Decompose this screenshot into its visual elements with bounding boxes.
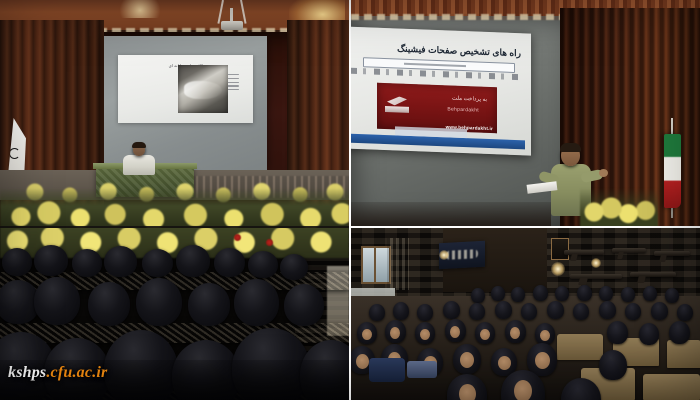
iran-flag	[662, 128, 684, 216]
auditorium-seat	[667, 340, 700, 368]
student-head	[511, 287, 525, 302]
audience-head	[34, 245, 68, 276]
panel-divider-horizontal-right	[351, 226, 700, 228]
panel-officer-presenting-phishing-slide: راه های تشخیص صفحات فیشینگ به پرداخت ملت…	[351, 0, 700, 228]
student-head	[599, 301, 616, 319]
mellat-logo-icon	[385, 95, 411, 118]
flower-arrangement	[580, 188, 658, 228]
student-face	[510, 327, 520, 339]
audience-head	[142, 249, 173, 277]
auditorium-seat	[557, 334, 603, 360]
student-head	[651, 302, 668, 320]
audience-head	[284, 284, 324, 326]
slide-photo	[178, 65, 228, 113]
audience-head	[176, 245, 210, 277]
student-head	[555, 286, 569, 301]
student-face	[514, 380, 532, 400]
student-head	[643, 286, 657, 301]
panel-auditorium-stage-presentation: کلاهبرداری رایانه ای	[0, 0, 349, 228]
student-backpack	[369, 358, 405, 382]
audience-head	[104, 246, 137, 277]
student-face	[498, 356, 511, 370]
student-head	[521, 303, 537, 320]
banner-title: به پرداخت ملت	[452, 96, 487, 103]
red-flower	[266, 239, 273, 246]
student-face	[420, 329, 430, 340]
student-face	[535, 352, 550, 369]
student-head	[547, 301, 564, 319]
presentation-slide: کلاهبرداری رایانه ای	[118, 55, 253, 123]
student-face	[460, 352, 474, 368]
officer-hair	[560, 143, 581, 152]
audience-head	[136, 278, 182, 326]
site-watermark: kshps.cfu.ac.ir	[8, 364, 107, 382]
audience-head	[214, 248, 245, 277]
student-head	[417, 304, 433, 321]
officer-hair	[132, 142, 146, 148]
audience-head	[188, 283, 230, 326]
watermark-primary: kshps	[8, 364, 46, 381]
ceiling-projector-icon	[219, 0, 245, 30]
mounted-rifle-icon	[570, 274, 622, 279]
mounted-rifle-icon	[612, 248, 646, 253]
student-head	[677, 304, 693, 321]
slide-title: راه های تشخیص صفحات فیشینگ	[397, 43, 521, 59]
projection-screen: راه های تشخیص صفحات فیشینگ به پرداخت ملت…	[351, 26, 531, 155]
stage-floor-shadow	[351, 202, 551, 228]
student-head	[573, 303, 589, 320]
student-head	[639, 323, 659, 345]
student-face	[459, 384, 476, 400]
photo-collage: کلاهبرداری رایانه ای راه های تش	[0, 0, 700, 400]
student-head	[669, 321, 690, 344]
student-bag	[407, 361, 437, 378]
student-head	[599, 350, 627, 380]
student-head	[625, 303, 641, 320]
student-face	[390, 327, 400, 339]
panel-lecture-hall-students	[351, 228, 700, 400]
student-head	[443, 301, 460, 319]
mounted-rifle-icon	[564, 250, 604, 255]
logo-shape	[387, 96, 407, 106]
audience-head	[234, 279, 279, 326]
projector-stem	[230, 8, 233, 22]
mounted-rifle-icon	[654, 251, 690, 256]
audience-head	[248, 251, 278, 278]
watermark-secondary: .cfu.ac.ir	[46, 364, 107, 381]
student-head	[471, 288, 485, 303]
panel-divider-vertical	[349, 0, 351, 400]
ceiling-light-glow-left	[120, 0, 160, 18]
student-face	[450, 326, 460, 338]
browser-status-bar	[351, 133, 525, 149]
mounted-rifle-icon	[630, 272, 676, 277]
student-head	[621, 287, 635, 302]
student-head	[577, 285, 592, 301]
officer-hand-right	[599, 169, 608, 177]
banner-latin-name: Behpardakht	[447, 106, 479, 113]
student-face	[480, 329, 490, 340]
student-face	[540, 330, 550, 341]
student-head	[491, 286, 505, 301]
student-head	[495, 301, 512, 319]
student-head	[469, 303, 485, 320]
wall-lamp	[439, 250, 449, 260]
audience-head	[88, 282, 130, 326]
audience-head	[2, 248, 32, 276]
auditorium-seat	[643, 374, 700, 400]
student-face	[356, 354, 369, 369]
audience-head	[72, 249, 102, 277]
projector-body	[221, 21, 243, 30]
audience-head	[34, 277, 80, 325]
window-curtain	[387, 238, 409, 290]
student-head	[393, 302, 409, 320]
logo-bar	[385, 106, 409, 113]
student-head	[533, 285, 548, 301]
officer-torso	[123, 155, 155, 175]
seated-officer	[122, 143, 156, 173]
student-head	[369, 304, 385, 321]
student-head	[665, 288, 679, 303]
student-head	[599, 286, 613, 301]
student-face	[362, 329, 372, 340]
panel-divider-horizontal-left	[0, 226, 349, 228]
flower-row-front	[0, 188, 349, 228]
flag-cloth	[664, 134, 681, 208]
student-head	[607, 321, 628, 344]
audience-head	[280, 254, 308, 280]
red-flower	[234, 234, 241, 241]
